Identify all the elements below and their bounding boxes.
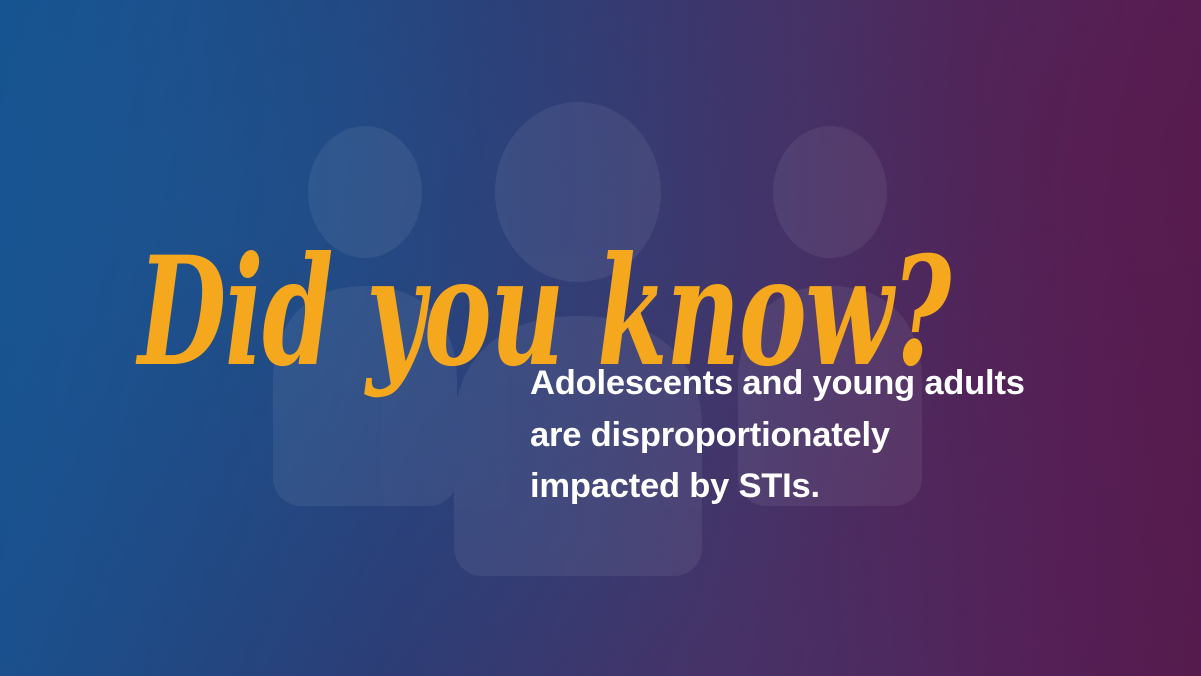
slide-canvas: Did you know? Adolescents and young adul…	[0, 0, 1201, 676]
body-copy: Adolescents and young adults are disprop…	[530, 358, 1090, 513]
body-line-2: are disproportionately	[530, 410, 1090, 462]
body-line-1: Adolescents and young adults	[530, 358, 1090, 410]
body-line-3: impacted by STIs.	[530, 461, 1090, 513]
